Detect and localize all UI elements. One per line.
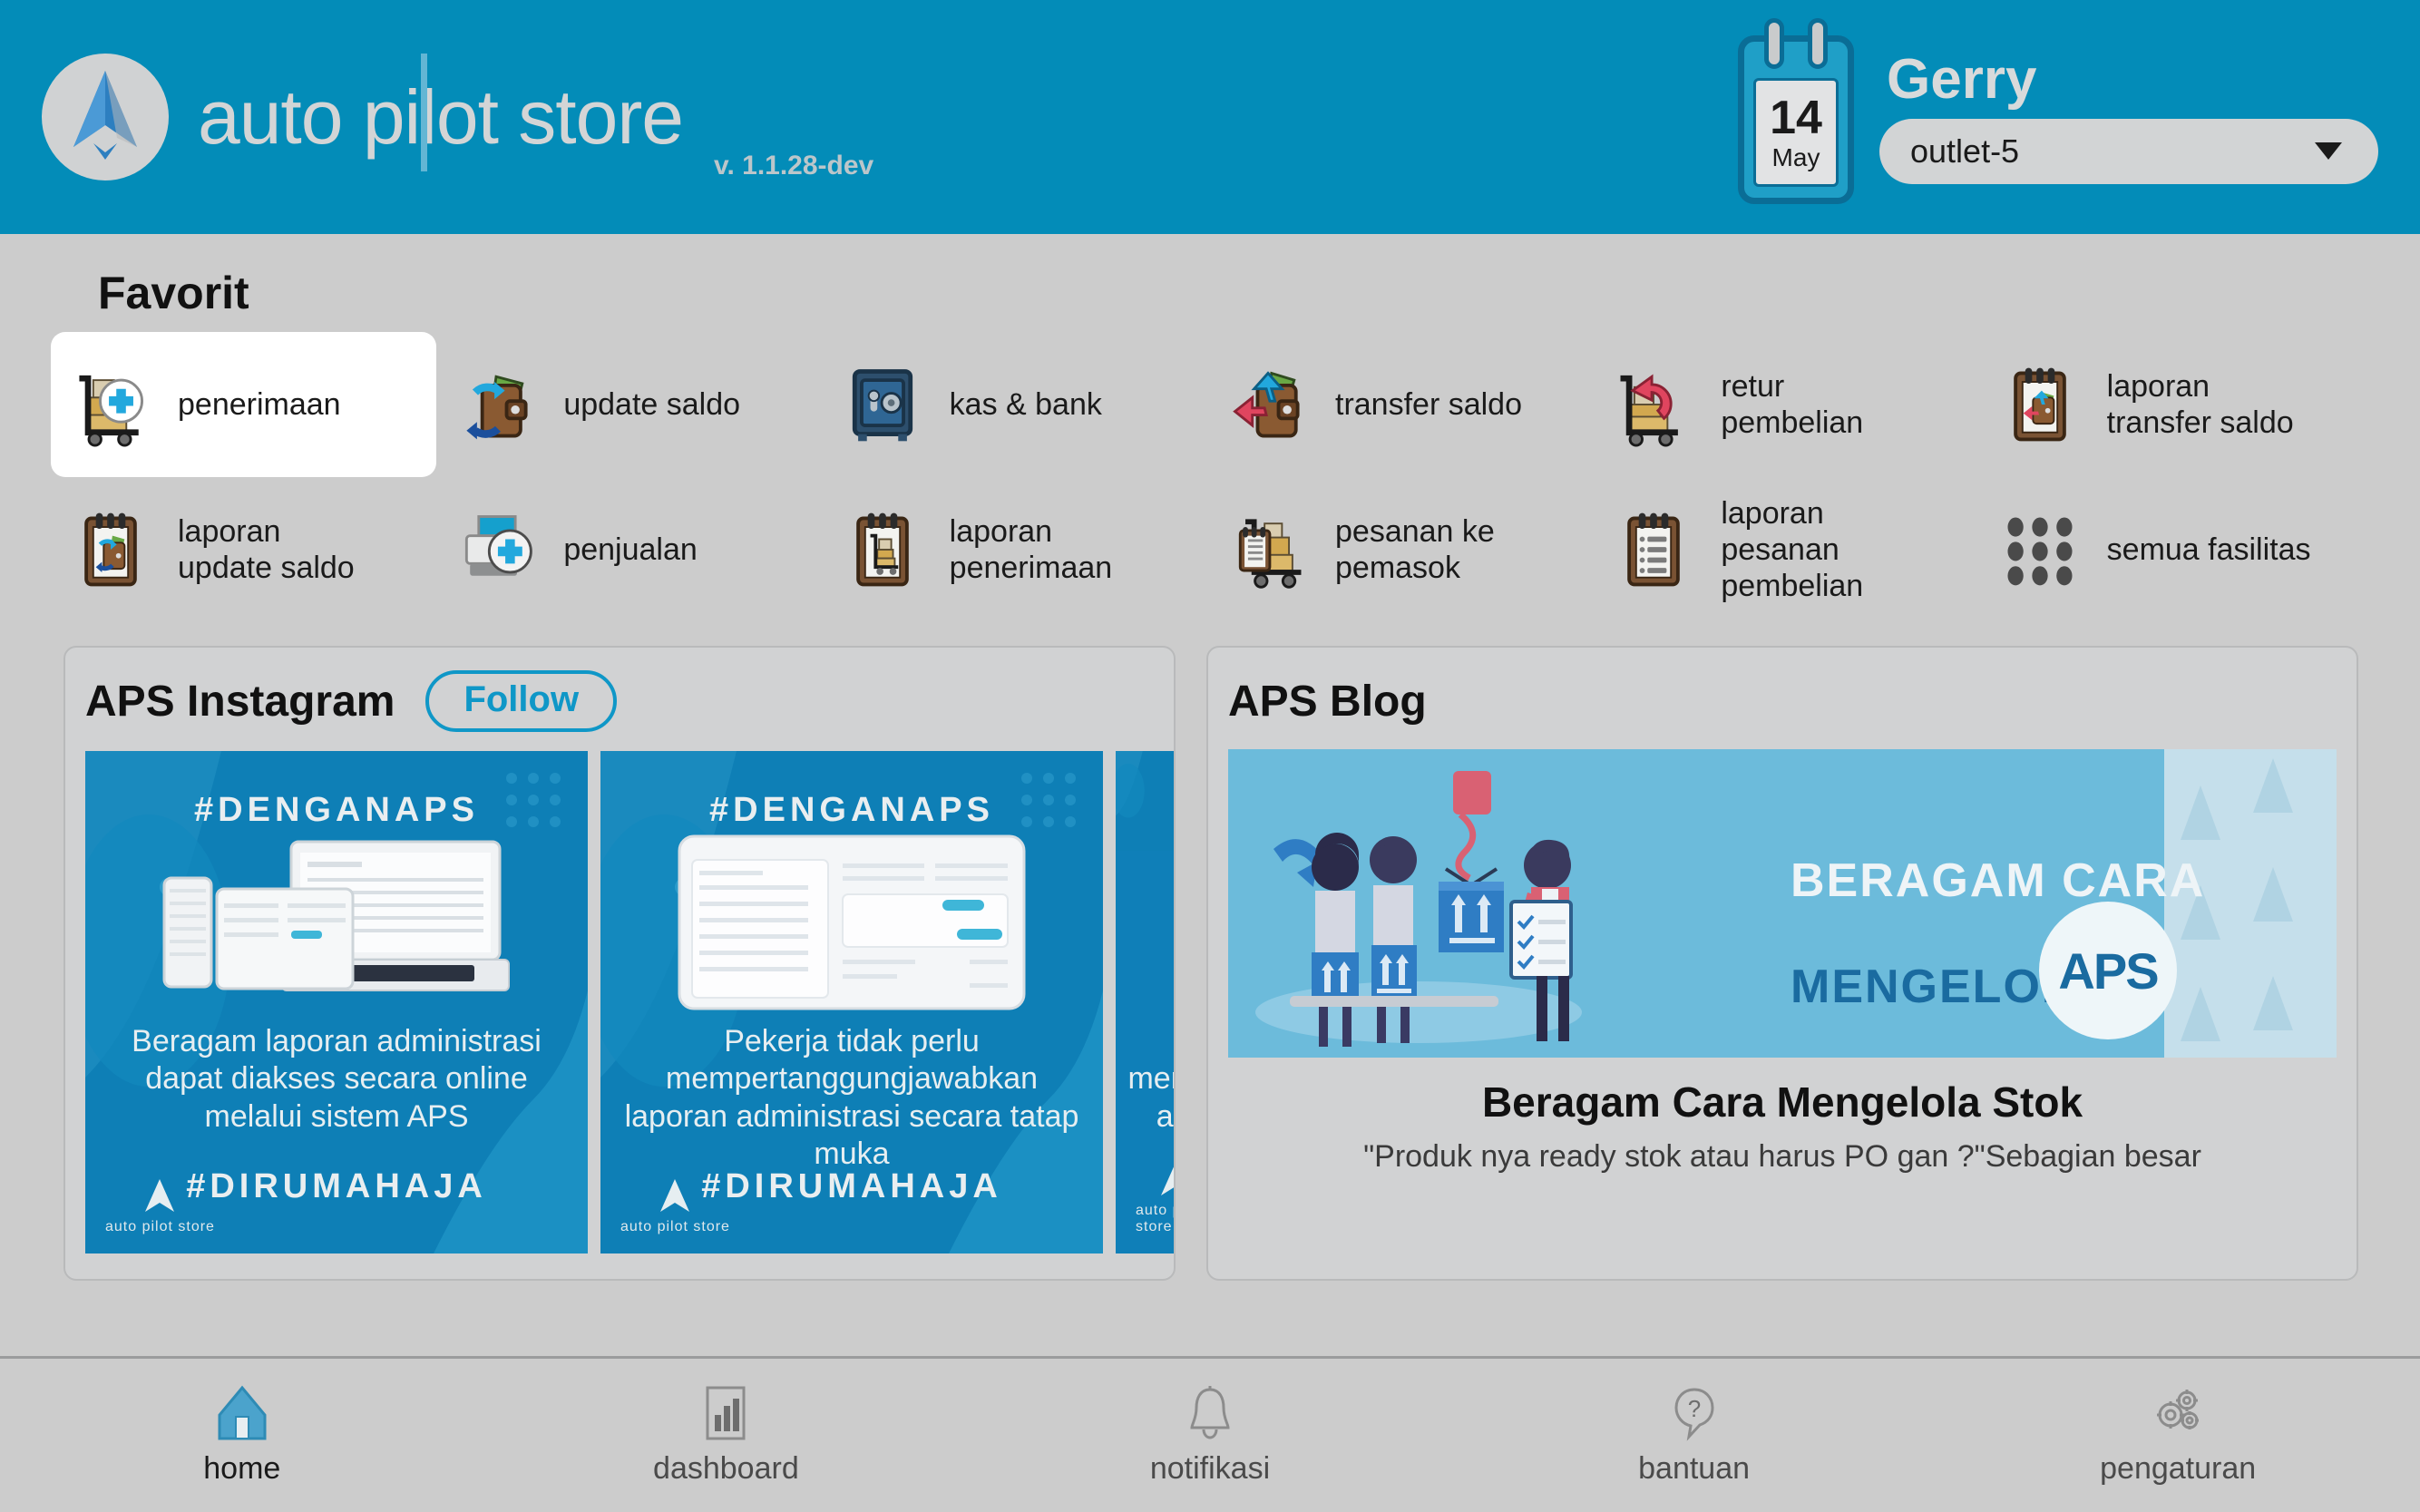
instagram-caption-text: Pekerja tidak perlu mempertanggungjawabk… [625,1024,1079,1171]
bottom-navigation: home dashboard notifikasi ? [0,1356,2420,1512]
fav-label: laporan penerimaan [950,513,1113,586]
user-name: Gerry [1887,50,2378,109]
page-title: Favorit [98,267,2420,319]
printer-plus-icon [453,506,540,593]
chevron-down-icon [2315,142,2342,160]
fav-item-laporan-transfer-saldo[interactable]: laporan transfer saldo [1980,332,2366,477]
fav-item-update-saldo[interactable]: update saldo [436,332,822,477]
fav-label: update saldo [563,386,740,423]
bell-icon [1185,1384,1235,1442]
brand-divider-bar [421,54,427,171]
fav-label: laporan update saldo [178,513,355,586]
instagram-watermark-text: auto pilot store [1136,1203,1176,1235]
user-block: Gerry outlet-5 [1879,50,2378,183]
report-list-icon [1610,506,1697,593]
calendar-icon: 14 May [1738,35,1854,204]
cards-row: APS Instagram Follow [0,622,2420,1281]
instagram-caption: Beragam laporan administrasi dapat diaks… [109,1023,564,1136]
instagram-card-title: APS Instagram [85,677,395,727]
order-supplier-icon [1225,506,1312,593]
fav-item-transfer-saldo[interactable]: transfer saldo [1208,332,1594,477]
nav-label: dashboard [653,1451,799,1487]
svg-text:?: ? [1687,1395,1700,1422]
instagram-caption: Pekerja tidak perlu mempertanggungjawabk… [624,1023,1079,1174]
blog-post-title[interactable]: Beragam Cara Mengelola Stok [1228,1078,2337,1127]
fav-item-laporan-pesanan-pembelian[interactable]: laporan pesanan pembelian [1594,477,1979,622]
blog-post-excerpt: "Produk nya ready stok atau harus PO gan… [1228,1139,2337,1175]
instagram-hashtag-top: #DENGANAPS [600,791,1103,830]
safe-box-icon [839,361,926,448]
outlet-select-value: outlet-5 [1910,132,2019,171]
calendar-ring-left [1764,18,1784,69]
chart-bar-icon [700,1384,751,1442]
blog-card: APS Blog [1206,646,2358,1281]
instagram-post[interactable]: #DENGANAPS [600,751,1103,1253]
fav-item-retur-pembelian[interactable]: retur pembelian [1594,332,1979,477]
fav-item-kas-bank[interactable]: kas & bank [823,332,1208,477]
follow-button[interactable]: Follow [425,670,617,732]
fav-label: kas & bank [950,386,1102,423]
favorites-grid: penerimaan update saldo [0,319,2420,622]
nav-item-notifikasi[interactable]: notifikasi [968,1359,1452,1512]
question-icon: ? [1669,1384,1720,1442]
blog-hero-title-line1: BERAGAM CARA [1791,854,2205,907]
fav-label: penerimaan [178,386,341,423]
gears-icon [2149,1384,2207,1442]
instagram-watermark: auto pilot store [620,1177,730,1235]
calendar-day: 14 [1770,94,1822,141]
fav-label: retur pembelian [1721,368,1863,441]
fav-item-penerimaan[interactable]: penerimaan [51,332,436,477]
report-transfer-icon [1996,361,2083,448]
instagram-watermark: auto pilot store [1136,1161,1176,1235]
instagram-card: APS Instagram Follow [63,646,1176,1281]
fav-label: laporan transfer saldo [2107,368,2294,441]
instagram-watermark: auto pilot store [105,1177,215,1235]
calendar-month: May [1772,145,1820,171]
fav-label: transfer saldo [1335,386,1522,423]
fav-label: pesanan ke pemasok [1335,513,1495,586]
report-update-saldo-icon [67,506,154,593]
fav-item-laporan-penerimaan[interactable]: laporan penerimaan [823,477,1208,622]
brand-name: auto pilot store [198,79,683,155]
calendar-sheet: 14 May [1753,78,1839,187]
instagram-watermark-text: auto pilot store [105,1219,215,1235]
aps-badge: APS [2039,902,2177,1039]
nav-item-pengaturan[interactable]: pengaturan [1936,1359,2420,1512]
instagram-watermark-text: auto pilot store [620,1219,730,1235]
grid-dots-icon [1996,506,2083,593]
header-right-group: 14 May Gerry outlet-5 [1738,30,2378,204]
instagram-caption-text: Pekerja tidak perlu mempertanggungjawabk… [1127,1024,1176,1134]
main-content: Favorit penerimaan [0,234,2420,1356]
fav-item-semua-fasilitas[interactable]: semua fasilitas [1980,477,2366,622]
blog-hero-image[interactable]: BERAGAM CARA MENGELOLA STOK APS [1228,749,2337,1058]
fav-item-pesanan-ke-pemasok[interactable]: pesanan ke pemasok [1208,477,1594,622]
nav-label: pengaturan [2100,1451,2256,1487]
fav-label: penjualan [563,532,697,568]
cart-plus-icon [67,361,154,448]
aps-badge-text: APS [2058,941,2157,1000]
nav-item-dashboard[interactable]: dashboard [484,1359,969,1512]
fav-item-laporan-update-saldo[interactable]: laporan update saldo [51,477,436,622]
outlet-select[interactable]: outlet-5 [1879,119,2378,184]
instagram-hashtag-top: #DENGANAPS [85,791,588,830]
fav-item-penjualan[interactable]: penjualan [436,477,822,622]
instagram-caption-text: Beragam laporan administrasi dapat diaks… [132,1024,542,1134]
blog-card-title: APS Blog [1228,677,1427,727]
nav-item-bantuan[interactable]: ? bantuan [1452,1359,1937,1512]
instagram-post-strip[interactable]: #DENGANAPS [85,751,1154,1253]
paper-plane-logo [42,54,169,180]
brand-name-text: auto pilot store [198,74,683,160]
nav-label: bantuan [1638,1451,1750,1487]
fav-label: semua fasilitas [2107,532,2311,568]
nav-label: home [203,1451,280,1487]
wallet-sync-icon [453,361,540,448]
wallet-transfer-icon [1225,361,1312,448]
cart-return-icon [1610,361,1697,448]
calendar-ring-right [1808,18,1828,69]
fav-label: laporan pesanan pembelian [1721,495,1863,604]
instagram-card-header: APS Instagram Follow [85,666,1154,736]
blog-card-header: APS Blog [1228,666,2337,736]
nav-item-home[interactable]: home [0,1359,484,1512]
app-version: v. 1.1.28-dev [714,151,873,234]
instagram-caption: Pekerja tidak perlu mempertanggungjawabk… [1125,1023,1176,1136]
instagram-post[interactable]: #DENGANAPS [85,751,588,1253]
instagram-post[interactable]: Pekerja tidak perlu mempertanggungjawabk… [1116,751,1176,1253]
home-icon [216,1384,268,1442]
app-header: auto pilot store v. 1.1.28-dev 14 May Ge… [0,0,2420,234]
nav-label: notifikasi [1150,1451,1270,1487]
report-penerimaan-icon [839,506,926,593]
